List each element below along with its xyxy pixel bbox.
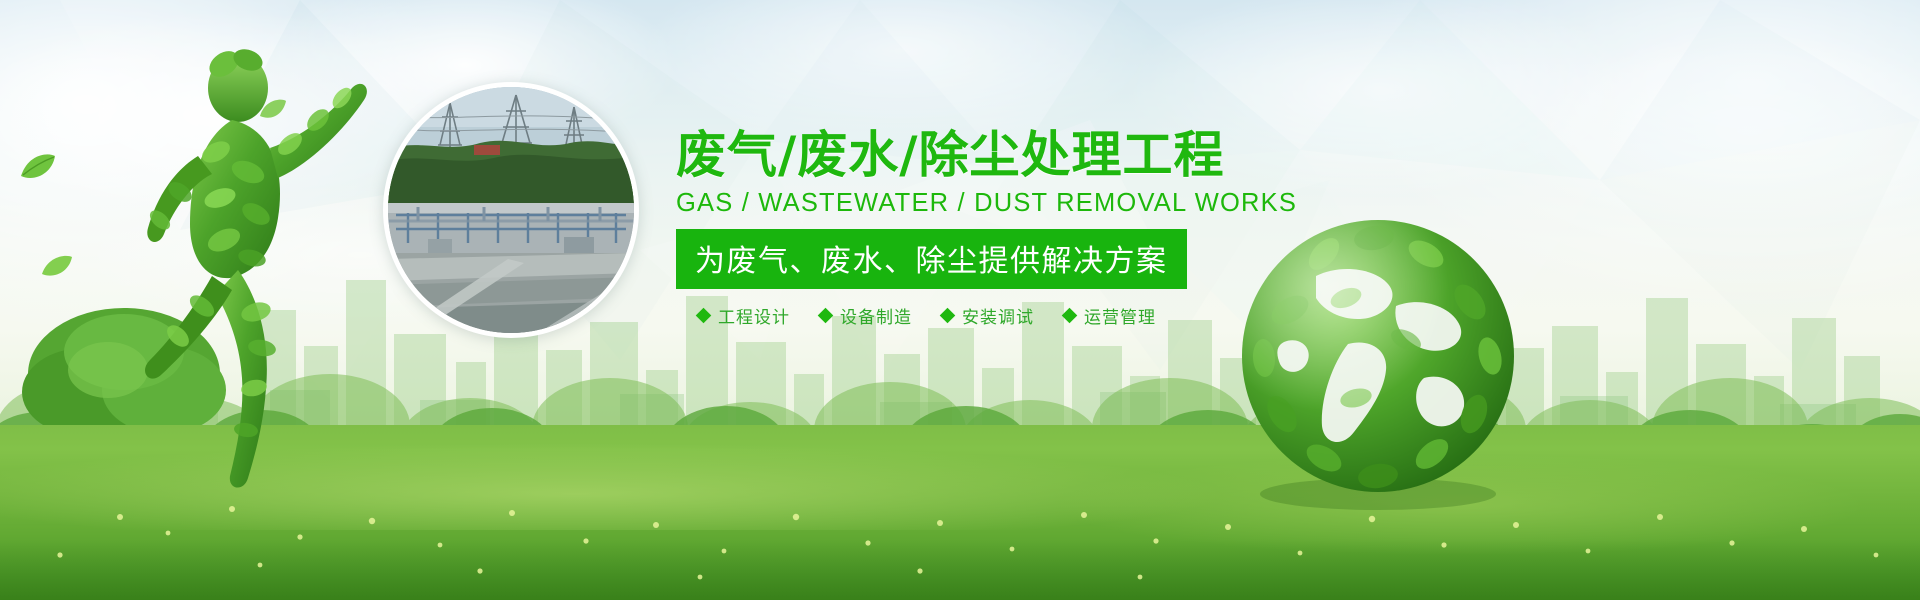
circle-photo-frame — [383, 82, 639, 338]
diamond-icon — [696, 308, 712, 324]
diamond-icon — [1062, 308, 1078, 324]
list-item[interactable]: 工程设计 — [698, 303, 790, 328]
list-item[interactable]: 运营管理 — [1064, 303, 1156, 328]
page-title: 废气/废水/除尘处理工程 — [676, 128, 1296, 182]
floating-leaf-icon — [40, 252, 74, 280]
diamond-icon — [940, 308, 956, 324]
wastewater-treatment-plant-photo — [388, 87, 634, 333]
service-bullet-list: 工程设计 设备制造 安装调试 运营管理 — [676, 303, 1296, 328]
environmental-engineering-banner: 废气/废水/除尘处理工程 GAS / WASTEWATER / DUST REM… — [0, 0, 1920, 600]
list-item[interactable]: 设备制造 — [820, 303, 912, 328]
list-item-label: 安装调试 — [962, 303, 1034, 328]
tagline-bar: 为废气、废水、除尘提供解决方案 — [676, 229, 1187, 289]
page-subtitle: GAS / WASTEWATER / DUST REMOVAL WORKS — [676, 189, 1296, 218]
list-item-label: 设备制造 — [840, 303, 912, 328]
list-item-label: 运营管理 — [1084, 303, 1156, 328]
floating-leaf-icon — [18, 150, 58, 184]
banner-text-block: 废气/废水/除尘处理工程 GAS / WASTEWATER / DUST REM… — [676, 128, 1296, 328]
tagline-text: 为废气、废水、除尘提供解决方案 — [695, 244, 1168, 279]
floating-leaf-icon — [258, 96, 288, 122]
list-item[interactable]: 安装调试 — [942, 303, 1034, 328]
diamond-icon — [818, 308, 834, 324]
list-item-label: 工程设计 — [718, 303, 790, 328]
